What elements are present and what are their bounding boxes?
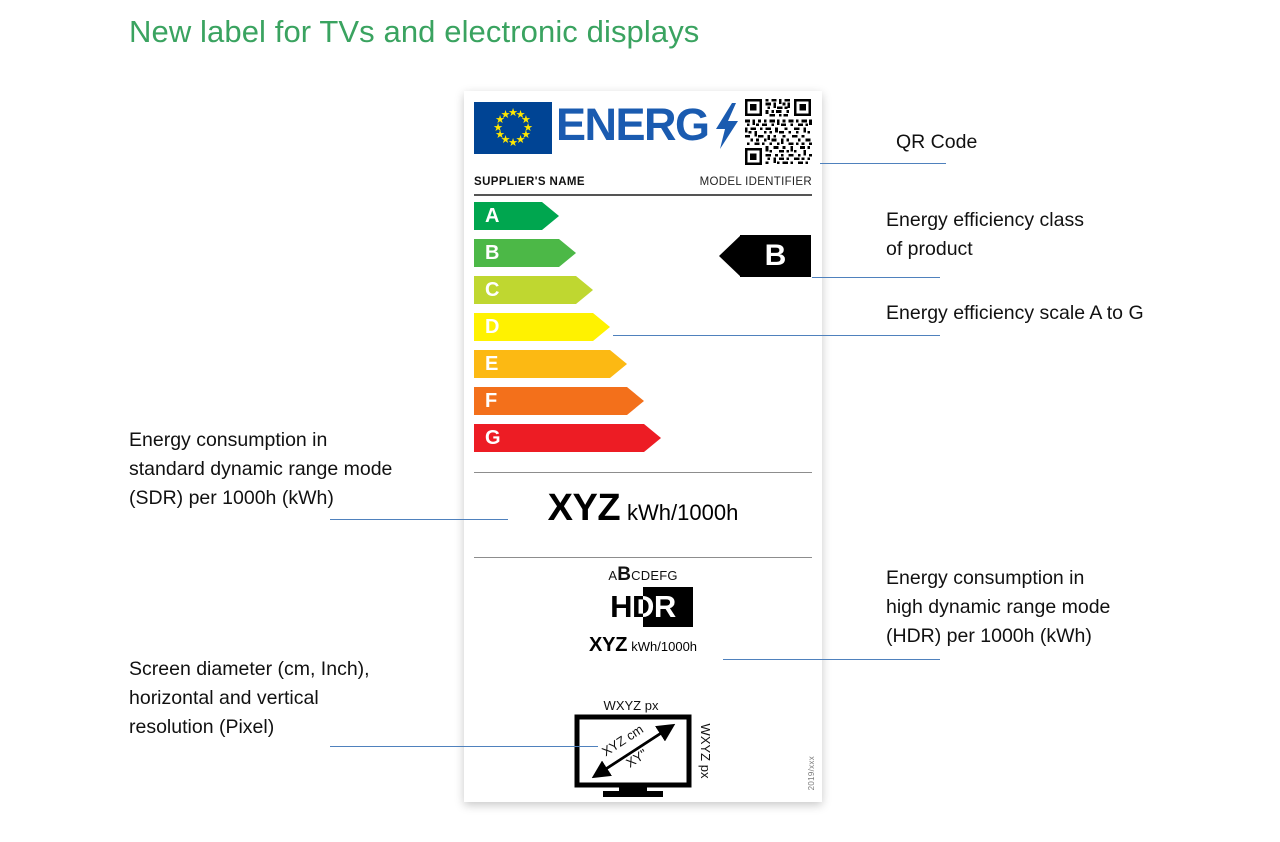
- infographic-canvas: New label for TVs and electronic display…: [0, 0, 1280, 842]
- lightning-bolt-icon: [714, 103, 740, 149]
- divider-sdr: [474, 557, 812, 558]
- selected-class-letter: B: [740, 235, 811, 277]
- energy-class-bar-f[interactable]: F: [474, 387, 674, 415]
- annotation-sdr-line1: Energy consumption in: [129, 426, 392, 455]
- hdr-scale-class: B: [617, 564, 631, 585]
- annotation-class-line1: Energy efficiency class: [886, 206, 1084, 235]
- bar-arrow-tip: [593, 313, 610, 341]
- regulation-code: 2019/xxx: [807, 756, 816, 790]
- annotation-sdr-line3: (SDR) per 1000h (kWh): [129, 484, 392, 513]
- bar-letter: C: [485, 276, 499, 304]
- annotation-screen: Screen diameter (cm, Inch), horizontal a…: [129, 655, 370, 742]
- hdr-consumption: ABCDEFG HDR HDR XYZkWh/1000h: [464, 567, 822, 657]
- connector-scale: [613, 335, 940, 336]
- svg-text:WXYZ px: WXYZ px: [698, 724, 713, 779]
- sdr-consumption: XYZkWh/1000h: [464, 487, 822, 530]
- selected-class-arrow: B: [719, 235, 811, 277]
- hdr-scale-after: CDEFG: [631, 568, 678, 583]
- annotation-class: Energy efficiency class of product: [886, 206, 1084, 264]
- bar-arrow-tip: [542, 202, 559, 230]
- hdr-mini-scale: ABCDEFG: [464, 567, 822, 584]
- bar-letter: E: [485, 350, 498, 378]
- screen-diagram: WXYZ px XYZ cm XY" WXYZ px: [569, 696, 714, 801]
- energy-class-bar-a[interactable]: A: [474, 202, 674, 230]
- eu-flag-icon: ★★★★★★★★★★★★: [474, 102, 552, 154]
- energy-label-card: ★★★★★★★★★★★★ ENERG: [464, 91, 822, 802]
- bar-letter: F: [485, 387, 497, 415]
- bar-arrow-tip: [610, 350, 627, 378]
- supplier-name: SUPPLIER'S NAME: [474, 176, 585, 188]
- annotation-hdr-line3: (HDR) per 1000h (kWh): [886, 622, 1110, 651]
- energy-class-bar-g[interactable]: G: [474, 424, 674, 452]
- connector-screen: [330, 746, 598, 747]
- annotation-scale: Energy efficiency scale A to G: [886, 299, 1144, 328]
- bar-arrow-tip: [627, 387, 644, 415]
- bar-arrow-tip: [559, 239, 576, 267]
- hdr-value-row: XYZkWh/1000h: [464, 634, 822, 657]
- connector-hdr: [723, 659, 940, 660]
- annotation-qr-code: QR Code: [896, 128, 977, 157]
- annotation-hdr: Energy consumption in high dynamic range…: [886, 564, 1110, 651]
- annotation-hdr-line2: high dynamic range mode: [886, 593, 1110, 622]
- label-header: ★★★★★★★★★★★★ ENERG: [464, 91, 822, 183]
- bar-arrow-tip: [644, 424, 661, 452]
- annotation-sdr: Energy consumption in standard dynamic r…: [129, 426, 392, 513]
- connector-class: [812, 277, 940, 278]
- annotation-screen-line1: Screen diameter (cm, Inch),: [129, 655, 370, 684]
- energy-class-scale: ABCDEFG: [474, 202, 674, 461]
- bar-arrow-tip: [576, 276, 593, 304]
- sdr-value: XYZ: [548, 487, 620, 529]
- class-arrow-point: [719, 235, 741, 277]
- divider-scale: [474, 472, 812, 473]
- energy-class-bar-b[interactable]: B: [474, 239, 674, 267]
- energ-wordmark: ENERG: [556, 99, 709, 151]
- model-identifier: MODEL IDENTIFIER: [700, 176, 812, 188]
- energy-class-bar-e[interactable]: E: [474, 350, 674, 378]
- svg-text:WXYZ px: WXYZ px: [604, 698, 659, 713]
- page-title: New label for TVs and electronic display…: [129, 14, 699, 50]
- connector-qr-code: [820, 163, 946, 164]
- bar-letter: D: [485, 313, 499, 341]
- sdr-unit: kWh/1000h: [627, 500, 738, 525]
- annotation-hdr-line1: Energy consumption in: [886, 564, 1110, 593]
- annotation-class-line2: of product: [886, 235, 1084, 264]
- annotation-sdr-line2: standard dynamic range mode: [129, 455, 392, 484]
- bar-letter: A: [485, 202, 499, 230]
- divider-header: [474, 194, 812, 196]
- hdr-badge-icon: HDR HDR: [594, 587, 693, 627]
- svg-text:XY": XY": [623, 746, 650, 771]
- eu-star-icon: ★: [500, 110, 511, 121]
- hdr-value: XYZ: [589, 634, 627, 656]
- hdr-unit: kWh/1000h: [631, 639, 697, 654]
- annotation-screen-line2: horizontal and vertical: [129, 684, 370, 713]
- bar-letter: B: [485, 239, 499, 267]
- annotation-screen-line3: resolution (Pixel): [129, 713, 370, 742]
- energy-class-bar-c[interactable]: C: [474, 276, 674, 304]
- bar-letter: G: [485, 424, 501, 452]
- energy-class-bar-d[interactable]: D: [474, 313, 674, 341]
- qr-code-icon: [741, 97, 815, 167]
- tv-icon: WXYZ px XYZ cm XY" WXYZ px: [569, 696, 714, 801]
- hdr-scale-before: A: [608, 568, 617, 583]
- connector-sdr: [330, 519, 508, 520]
